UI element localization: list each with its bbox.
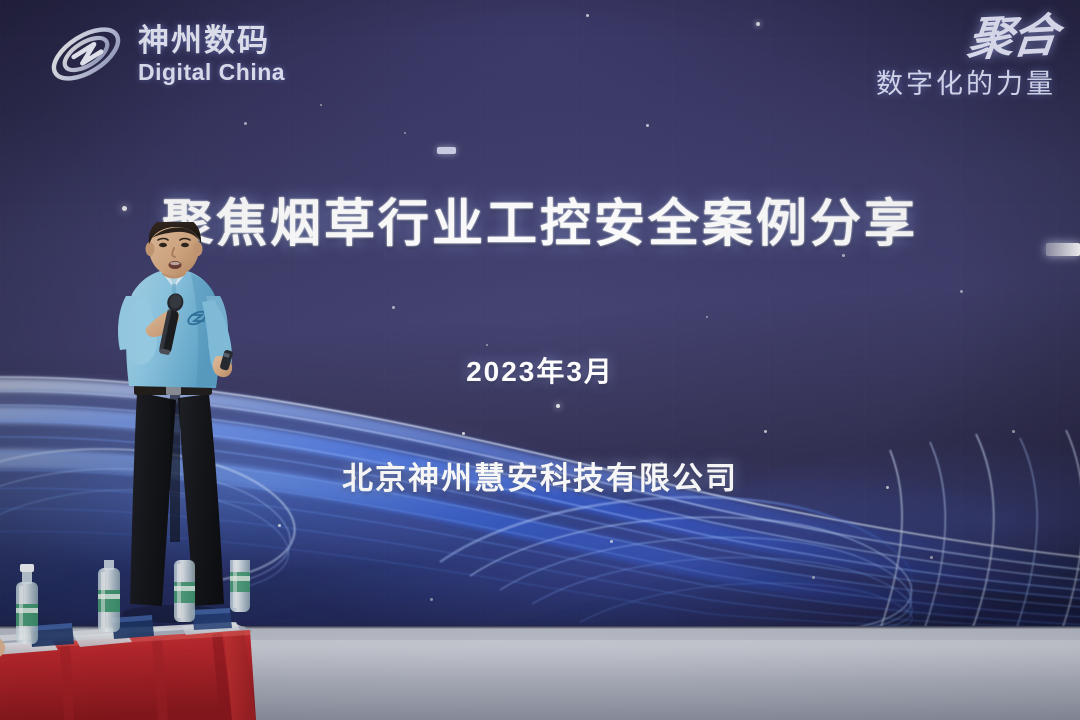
water-bottle	[230, 560, 250, 612]
foreground-table	[0, 560, 286, 720]
water-bottle	[16, 564, 38, 644]
digital-china-logo: 神州数码 Digital China	[44, 20, 285, 88]
logo-english-name: Digital China	[138, 61, 285, 84]
water-bottle	[174, 560, 195, 622]
water-bottle	[98, 560, 120, 632]
digital-china-spiral-logo-icon	[44, 20, 128, 88]
event-slogan: 聚合 数字化的力量	[876, 16, 1056, 101]
slogan-subtitle: 数字化的力量	[876, 62, 1056, 101]
logo-chinese-name: 神州数码	[138, 25, 285, 56]
conference-photo: 神州数码 Digital China 聚合 数字化的力量 聚焦烟草行业工控安全案…	[0, 0, 1080, 720]
slogan-calligraphy: 聚合	[965, 14, 1058, 61]
